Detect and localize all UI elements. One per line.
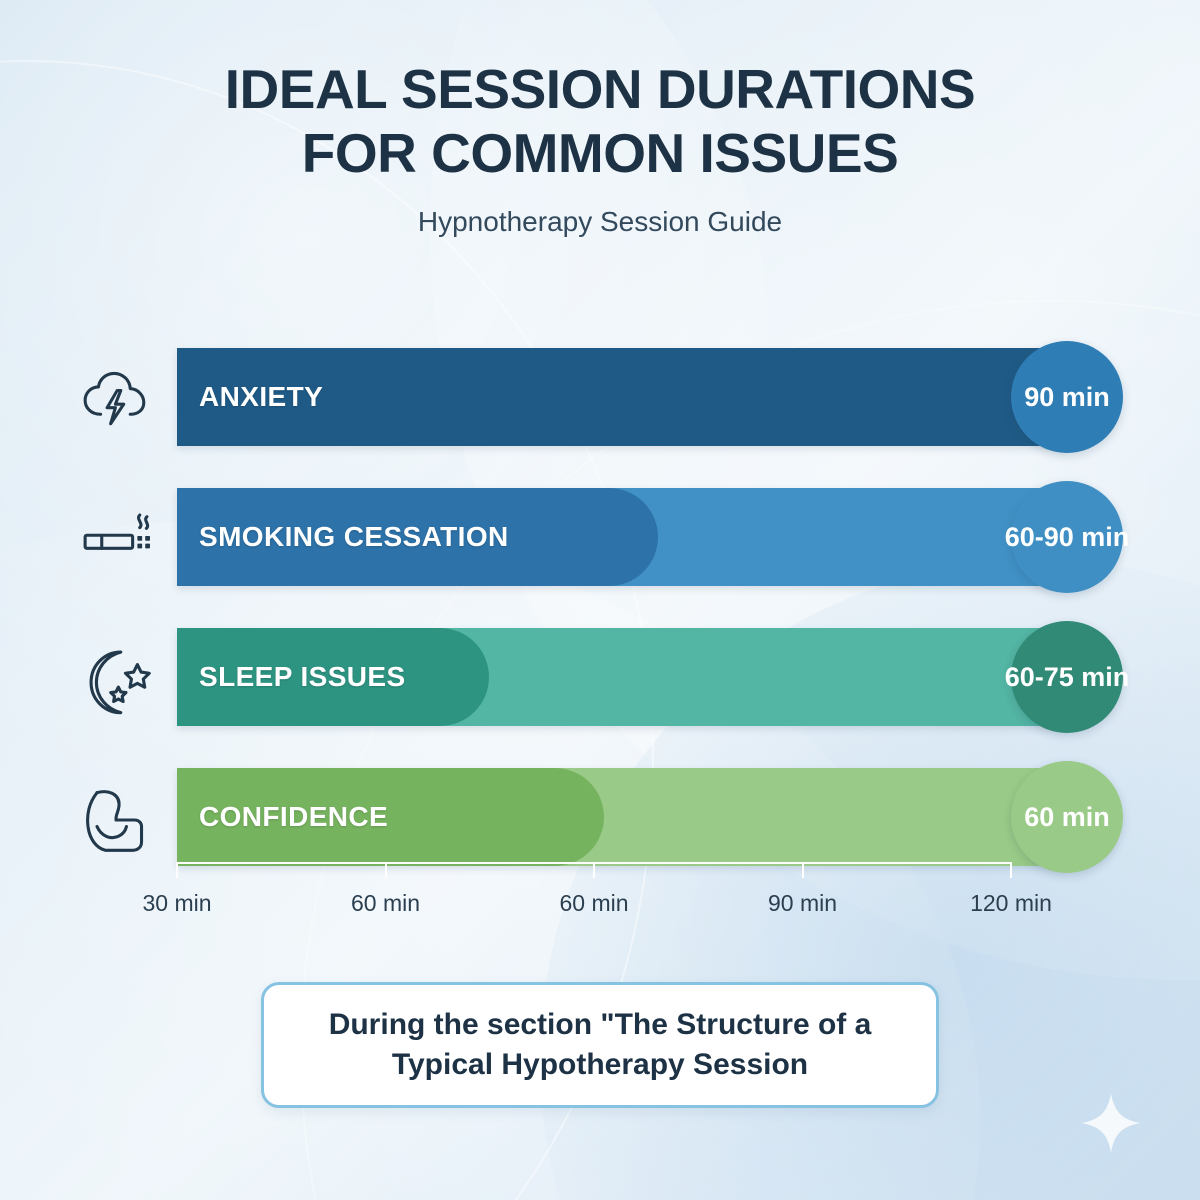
flexed-biceps-icon bbox=[72, 774, 160, 866]
bar-label: CONFIDENCE bbox=[199, 768, 388, 866]
bar-value-badge: 60 min bbox=[1011, 761, 1123, 873]
sparkle-icon bbox=[1080, 1092, 1142, 1154]
page-subtitle: Hypnotherapy Session Guide bbox=[0, 206, 1200, 238]
axis-tick bbox=[1010, 862, 1012, 878]
duration-bar-chart: ANXIETY 90 min S bbox=[0, 330, 1200, 890]
moon-stars-icon bbox=[72, 634, 160, 726]
bar-value-badge: 60-90 min bbox=[1011, 481, 1123, 593]
bar-sleep-issues: SLEEP ISSUES 60-75 min bbox=[177, 628, 1067, 726]
axis-tick-label: 60 min bbox=[559, 890, 628, 917]
header: IDEAL SESSION DURATIONS FOR COMMON ISSUE… bbox=[0, 58, 1200, 238]
cigarette-icon bbox=[72, 494, 160, 586]
bar-smoking-cessation: SMOKING CESSATION 60-90 min bbox=[177, 488, 1067, 586]
axis-tick-label: 90 min bbox=[768, 890, 837, 917]
bar-anxiety: ANXIETY 90 min bbox=[177, 348, 1067, 446]
axis-tick bbox=[176, 862, 178, 878]
infographic-canvas: IDEAL SESSION DURATIONS FOR COMMON ISSUE… bbox=[0, 0, 1200, 1200]
page-title-line2: FOR COMMON ISSUES bbox=[302, 122, 899, 184]
axis-tick bbox=[593, 862, 595, 878]
bar-value-badge: 60-75 min bbox=[1011, 621, 1123, 733]
chart-row-sleep-issues: SLEEP ISSUES 60-75 min bbox=[0, 610, 1200, 750]
axis-tick-label: 120 min bbox=[970, 890, 1052, 917]
axis-tick bbox=[385, 862, 387, 878]
page-title-line1: IDEAL SESSION DURATIONS bbox=[225, 58, 975, 120]
page-title: IDEAL SESSION DURATIONS FOR COMMON ISSUE… bbox=[170, 58, 1030, 186]
bar-label: SLEEP ISSUES bbox=[199, 628, 406, 726]
callout-text: During the section "The Structure of a T… bbox=[298, 1005, 902, 1084]
bar-label: ANXIETY bbox=[199, 348, 323, 446]
duration-axis: 30 min60 min60 min90 min120 min bbox=[177, 862, 1011, 932]
chart-row-anxiety: ANXIETY 90 min bbox=[0, 330, 1200, 470]
bar-label: SMOKING CESSATION bbox=[199, 488, 509, 586]
callout-box: During the section "The Structure of a T… bbox=[261, 982, 939, 1108]
axis-tick bbox=[802, 862, 804, 878]
bar-value-badge: 90 min bbox=[1011, 341, 1123, 453]
axis-tick-label: 30 min bbox=[142, 890, 211, 917]
chart-row-smoking-cessation: SMOKING CESSATION 60-90 min bbox=[0, 470, 1200, 610]
bar-confidence: CONFIDENCE 60 min bbox=[177, 768, 1067, 866]
storm-cloud-icon bbox=[72, 354, 160, 446]
axis-tick-label: 60 min bbox=[351, 890, 420, 917]
